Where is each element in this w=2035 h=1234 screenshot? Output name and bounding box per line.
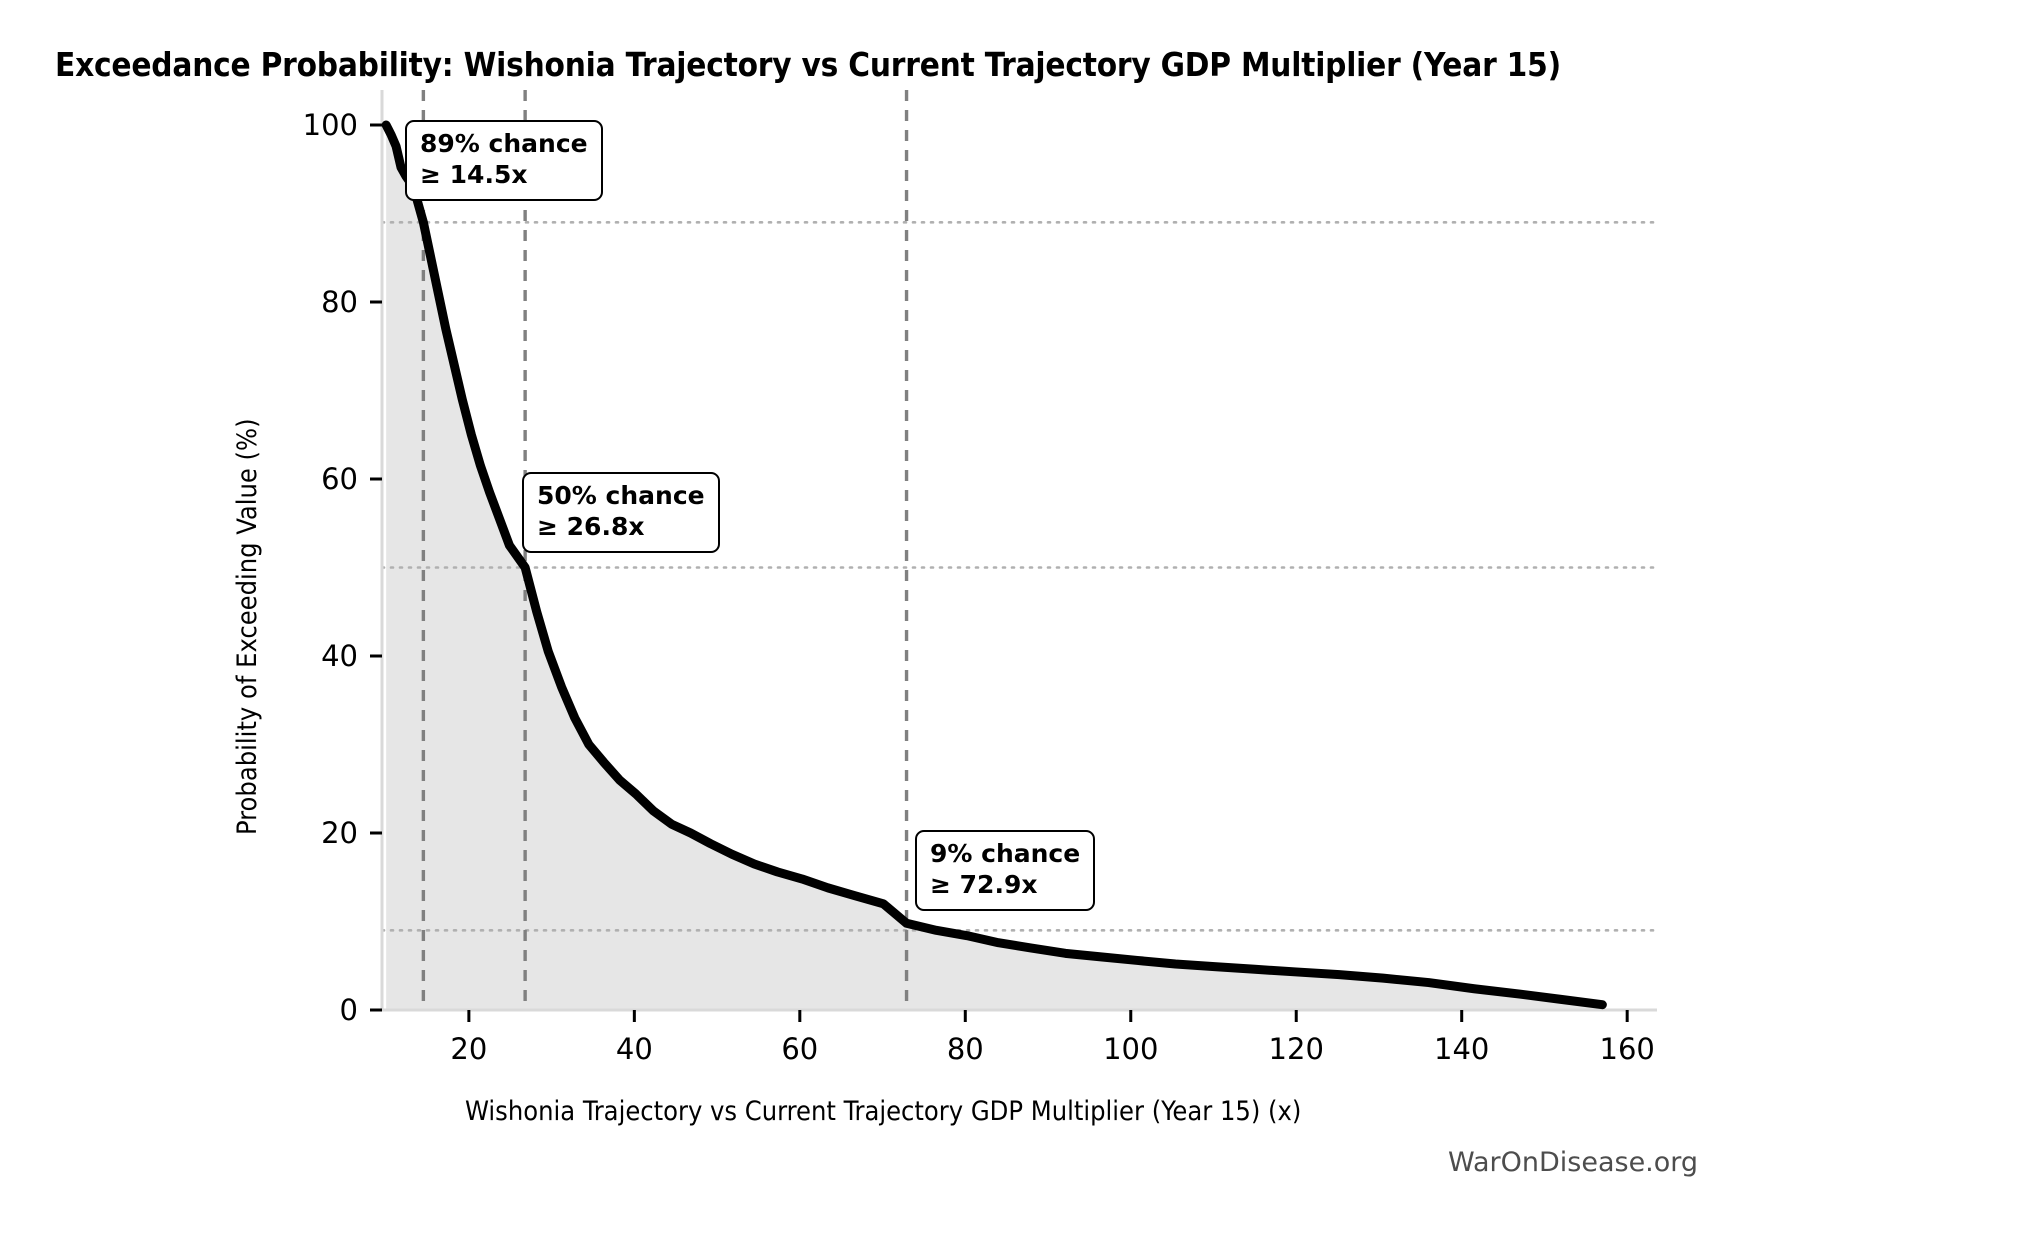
- y-tick-label-20: 20: [321, 816, 358, 850]
- y-axis-label: Probability of Exceeding Value (%): [232, 418, 263, 835]
- x-axis-label: Wishonia Trajectory vs Current Trajector…: [465, 1096, 1301, 1127]
- x-tick-label-140: 140: [1434, 1032, 1489, 1066]
- y-tick-label-40: 40: [321, 639, 358, 673]
- annotation-callout-89: 89% chance ≥ 14.5x: [405, 120, 603, 201]
- y-tick-label-0: 0: [340, 993, 358, 1027]
- watermark-text: WarOnDisease.org: [1448, 1147, 1698, 1178]
- annotation-line1: 9% chance: [930, 839, 1080, 868]
- x-tick-label-120: 120: [1269, 1032, 1324, 1066]
- x-tick-label-60: 60: [781, 1032, 818, 1066]
- annotation-callout-9: 9% chance ≥ 72.9x: [915, 830, 1095, 911]
- x-tick-label-100: 100: [1103, 1032, 1158, 1066]
- annotation-line1: 50% chance: [537, 481, 705, 510]
- y-tick-label-80: 80: [321, 285, 358, 319]
- annotation-line2: ≥ 72.9x: [930, 870, 1080, 901]
- annotation-line1: 89% chance: [420, 129, 588, 158]
- x-tick-label-40: 40: [616, 1032, 653, 1066]
- figure-canvas: Exceedance Probability: Wishonia Traject…: [0, 0, 2035, 1234]
- plot-area: [0, 0, 2035, 1234]
- annotation-line2: ≥ 14.5x: [420, 160, 588, 191]
- y-tick-label-60: 60: [321, 462, 358, 496]
- annotation-line2: ≥ 26.8x: [537, 512, 705, 543]
- x-tick-label-160: 160: [1599, 1032, 1654, 1066]
- annotation-callout-50: 50% chance ≥ 26.8x: [522, 472, 720, 553]
- y-tick-label-100: 100: [303, 108, 358, 142]
- x-tick-label-20: 20: [450, 1032, 487, 1066]
- x-tick-label-80: 80: [947, 1032, 984, 1066]
